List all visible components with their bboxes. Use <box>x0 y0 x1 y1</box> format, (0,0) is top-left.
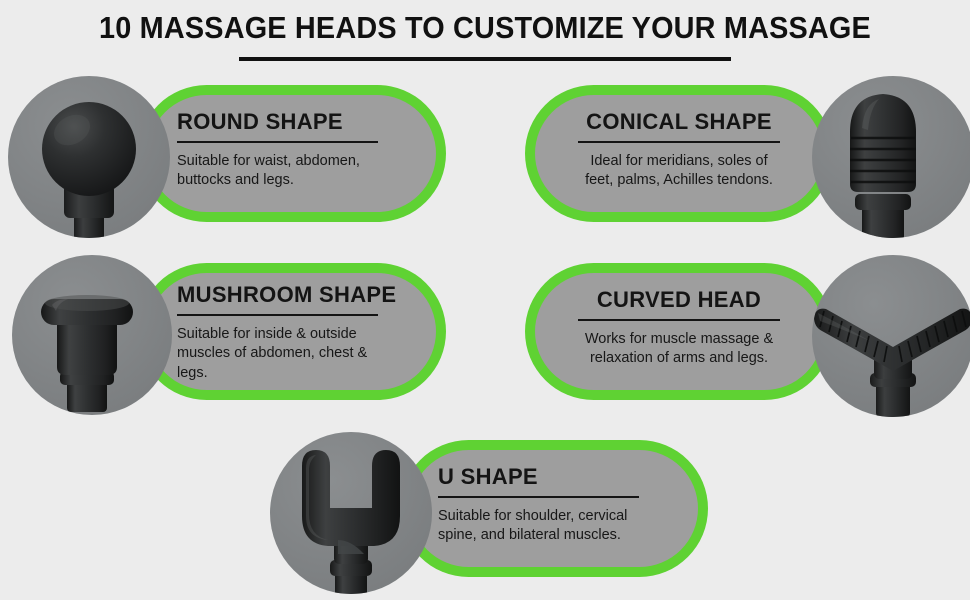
conical-head-icon <box>812 76 970 238</box>
page-header: 10 MASSAGE HEADS TO CUSTOMIZE YOUR MASSA… <box>0 12 970 61</box>
card-body: Suitable for waist, abdomen, buttocks an… <box>177 152 427 191</box>
card-title-rule <box>438 496 639 498</box>
card-image-curved-head <box>812 255 970 417</box>
card-text-u-shape: U SHAPE Suitable for shoulder, cervical … <box>438 465 693 546</box>
card-title: U SHAPE <box>438 465 693 489</box>
card-title-rule <box>177 314 378 316</box>
card-title: CONICAL SHAPE <box>548 110 810 134</box>
card-image-mushroom-shape <box>12 255 172 415</box>
card-image-conical-shape <box>812 76 970 238</box>
card-body: Suitable for inside & outside muscles of… <box>177 325 432 383</box>
card-text-round-shape: ROUND SHAPE Suitable for waist, abdomen,… <box>177 110 427 191</box>
card-text-mushroom-shape: MUSHROOM SHAPE Suitable for inside & out… <box>177 283 432 383</box>
card-body: Suitable for shoulder, cervical spine, a… <box>438 507 693 546</box>
title-underline <box>239 57 731 61</box>
card-text-curved-head: CURVED HEAD Works for muscle massage & r… <box>548 288 810 369</box>
card-body: Ideal for meridians, soles of feet, palm… <box>548 152 810 191</box>
curved-head-icon <box>812 255 970 417</box>
page-title: 10 MASSAGE HEADS TO CUSTOMIZE YOUR MASSA… <box>34 12 936 45</box>
card-title-rule <box>578 319 780 321</box>
card-title-rule <box>578 141 780 143</box>
card-body: Works for muscle massage & relaxation of… <box>548 330 810 369</box>
mushroom-head-icon <box>12 255 172 415</box>
round-head-icon <box>8 76 170 238</box>
card-image-round-shape <box>8 76 170 238</box>
card-title: ROUND SHAPE <box>177 110 427 134</box>
card-image-u-shape <box>270 432 432 594</box>
card-title: MUSHROOM SHAPE <box>177 283 432 307</box>
card-title: CURVED HEAD <box>548 288 810 312</box>
u-head-icon <box>270 432 432 594</box>
card-text-conical-shape: CONICAL SHAPE Ideal for meridians, soles… <box>548 110 810 191</box>
card-title-rule <box>177 141 378 143</box>
